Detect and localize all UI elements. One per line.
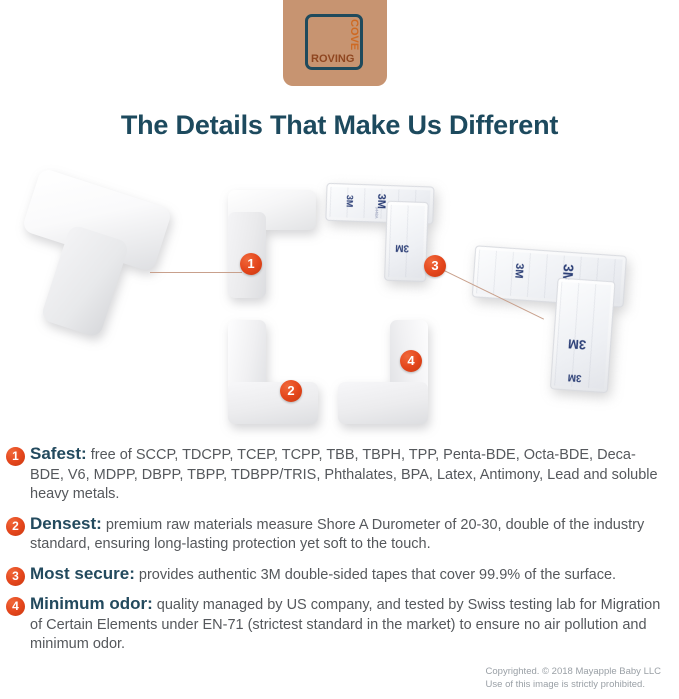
guard-arm-horizontal — [228, 382, 318, 424]
logo-text-roving: ROVING — [311, 54, 354, 65]
corner-guard-hero — [28, 187, 180, 332]
corner-guard-plain-top — [228, 190, 320, 298]
tape-code-label: 9448A — [374, 207, 378, 219]
callout-badge-2: 2 — [280, 380, 302, 402]
tape-3m-logo: 3M — [395, 242, 409, 252]
feature-label: Safest: — [30, 444, 87, 463]
callout-badge-4: 4 — [400, 350, 422, 372]
callout-badge-3: 3 — [424, 255, 446, 277]
feature-item: 3 Most secure: provides authentic 3M dou… — [0, 564, 679, 586]
feature-text: Densest: premium raw materials measure S… — [30, 514, 679, 555]
guard-arm-vertical — [40, 224, 130, 338]
feature-item: 4 Minimum odor: quality managed by US co… — [0, 594, 679, 655]
feature-badge-3: 3 — [6, 567, 25, 586]
tape-arm-vertical: 3M 3M — [550, 277, 616, 393]
feature-badge-1: 1 — [6, 447, 25, 466]
corner-guard-tape-back-large: 3M 9448A 3M 3M 3M — [470, 228, 662, 411]
feature-list: 1 Safest: free of SCCP, TDCPP, TCEP, TCP… — [0, 444, 679, 664]
brand-logo: ROVING COVE — [283, 0, 387, 86]
feature-badge-2: 2 — [6, 517, 25, 536]
feature-body: provides authentic 3M double-sided tapes… — [139, 567, 616, 583]
tape-3m-logo: 3M — [512, 263, 524, 279]
feature-badge-4: 4 — [6, 597, 25, 616]
feature-label: Densest: — [30, 514, 102, 533]
copyright-notice: Copyrighted. © 2018 Mayapple Baby LLC Us… — [486, 665, 661, 691]
callout-badge-1: 1 — [240, 253, 262, 275]
feature-text: Minimum odor: quality managed by US comp… — [30, 594, 679, 655]
page-title: The Details That Make Us Different — [0, 110, 679, 141]
feature-label: Most secure: — [30, 564, 135, 583]
feature-item: 2 Densest: premium raw materials measure… — [0, 514, 679, 555]
callout-connector-line-1 — [150, 272, 242, 273]
feature-item: 1 Safest: free of SCCP, TDCPP, TCEP, TCP… — [0, 444, 679, 505]
feature-text: Safest: free of SCCP, TDCPP, TCEP, TCPP,… — [30, 444, 679, 505]
adhesive-liner — [388, 205, 424, 278]
corner-guard-plain-bottom-left — [228, 320, 320, 425]
corner-guard-plain-bottom-right — [338, 320, 430, 425]
feature-text: Most secure: provides authentic 3M doubl… — [30, 564, 679, 586]
tape-3m-logo: 3M — [345, 195, 354, 208]
copyright-line-1: Copyrighted. © 2018 Mayapple Baby LLC — [486, 665, 661, 678]
guard-arm-horizontal — [338, 382, 428, 424]
adhesive-liner — [554, 282, 611, 389]
tape-3m-logo: 3M — [568, 337, 587, 351]
logo-frame: ROVING COVE — [305, 14, 363, 70]
tape-3m-logo: 3M — [567, 371, 582, 382]
feature-label: Minimum odor: — [30, 594, 153, 613]
copyright-line-2: Use of this image is strictly prohibited… — [486, 678, 661, 691]
product-illustration: 3M 9448A 3M 3M 3M 9448A 3M 3M 3M 1 2 3 4 — [0, 165, 679, 430]
corner-guard-tape-back: 3M 9448A 3M 3M — [322, 165, 465, 300]
logo-text-cove: COVE — [348, 19, 359, 50]
feature-body: free of SCCP, TDCPP, TCEP, TCPP, TBB, TB… — [30, 447, 658, 502]
tape-arm-vertical: 3M — [384, 201, 429, 282]
feature-body: premium raw materials measure Shore A Du… — [30, 517, 644, 553]
